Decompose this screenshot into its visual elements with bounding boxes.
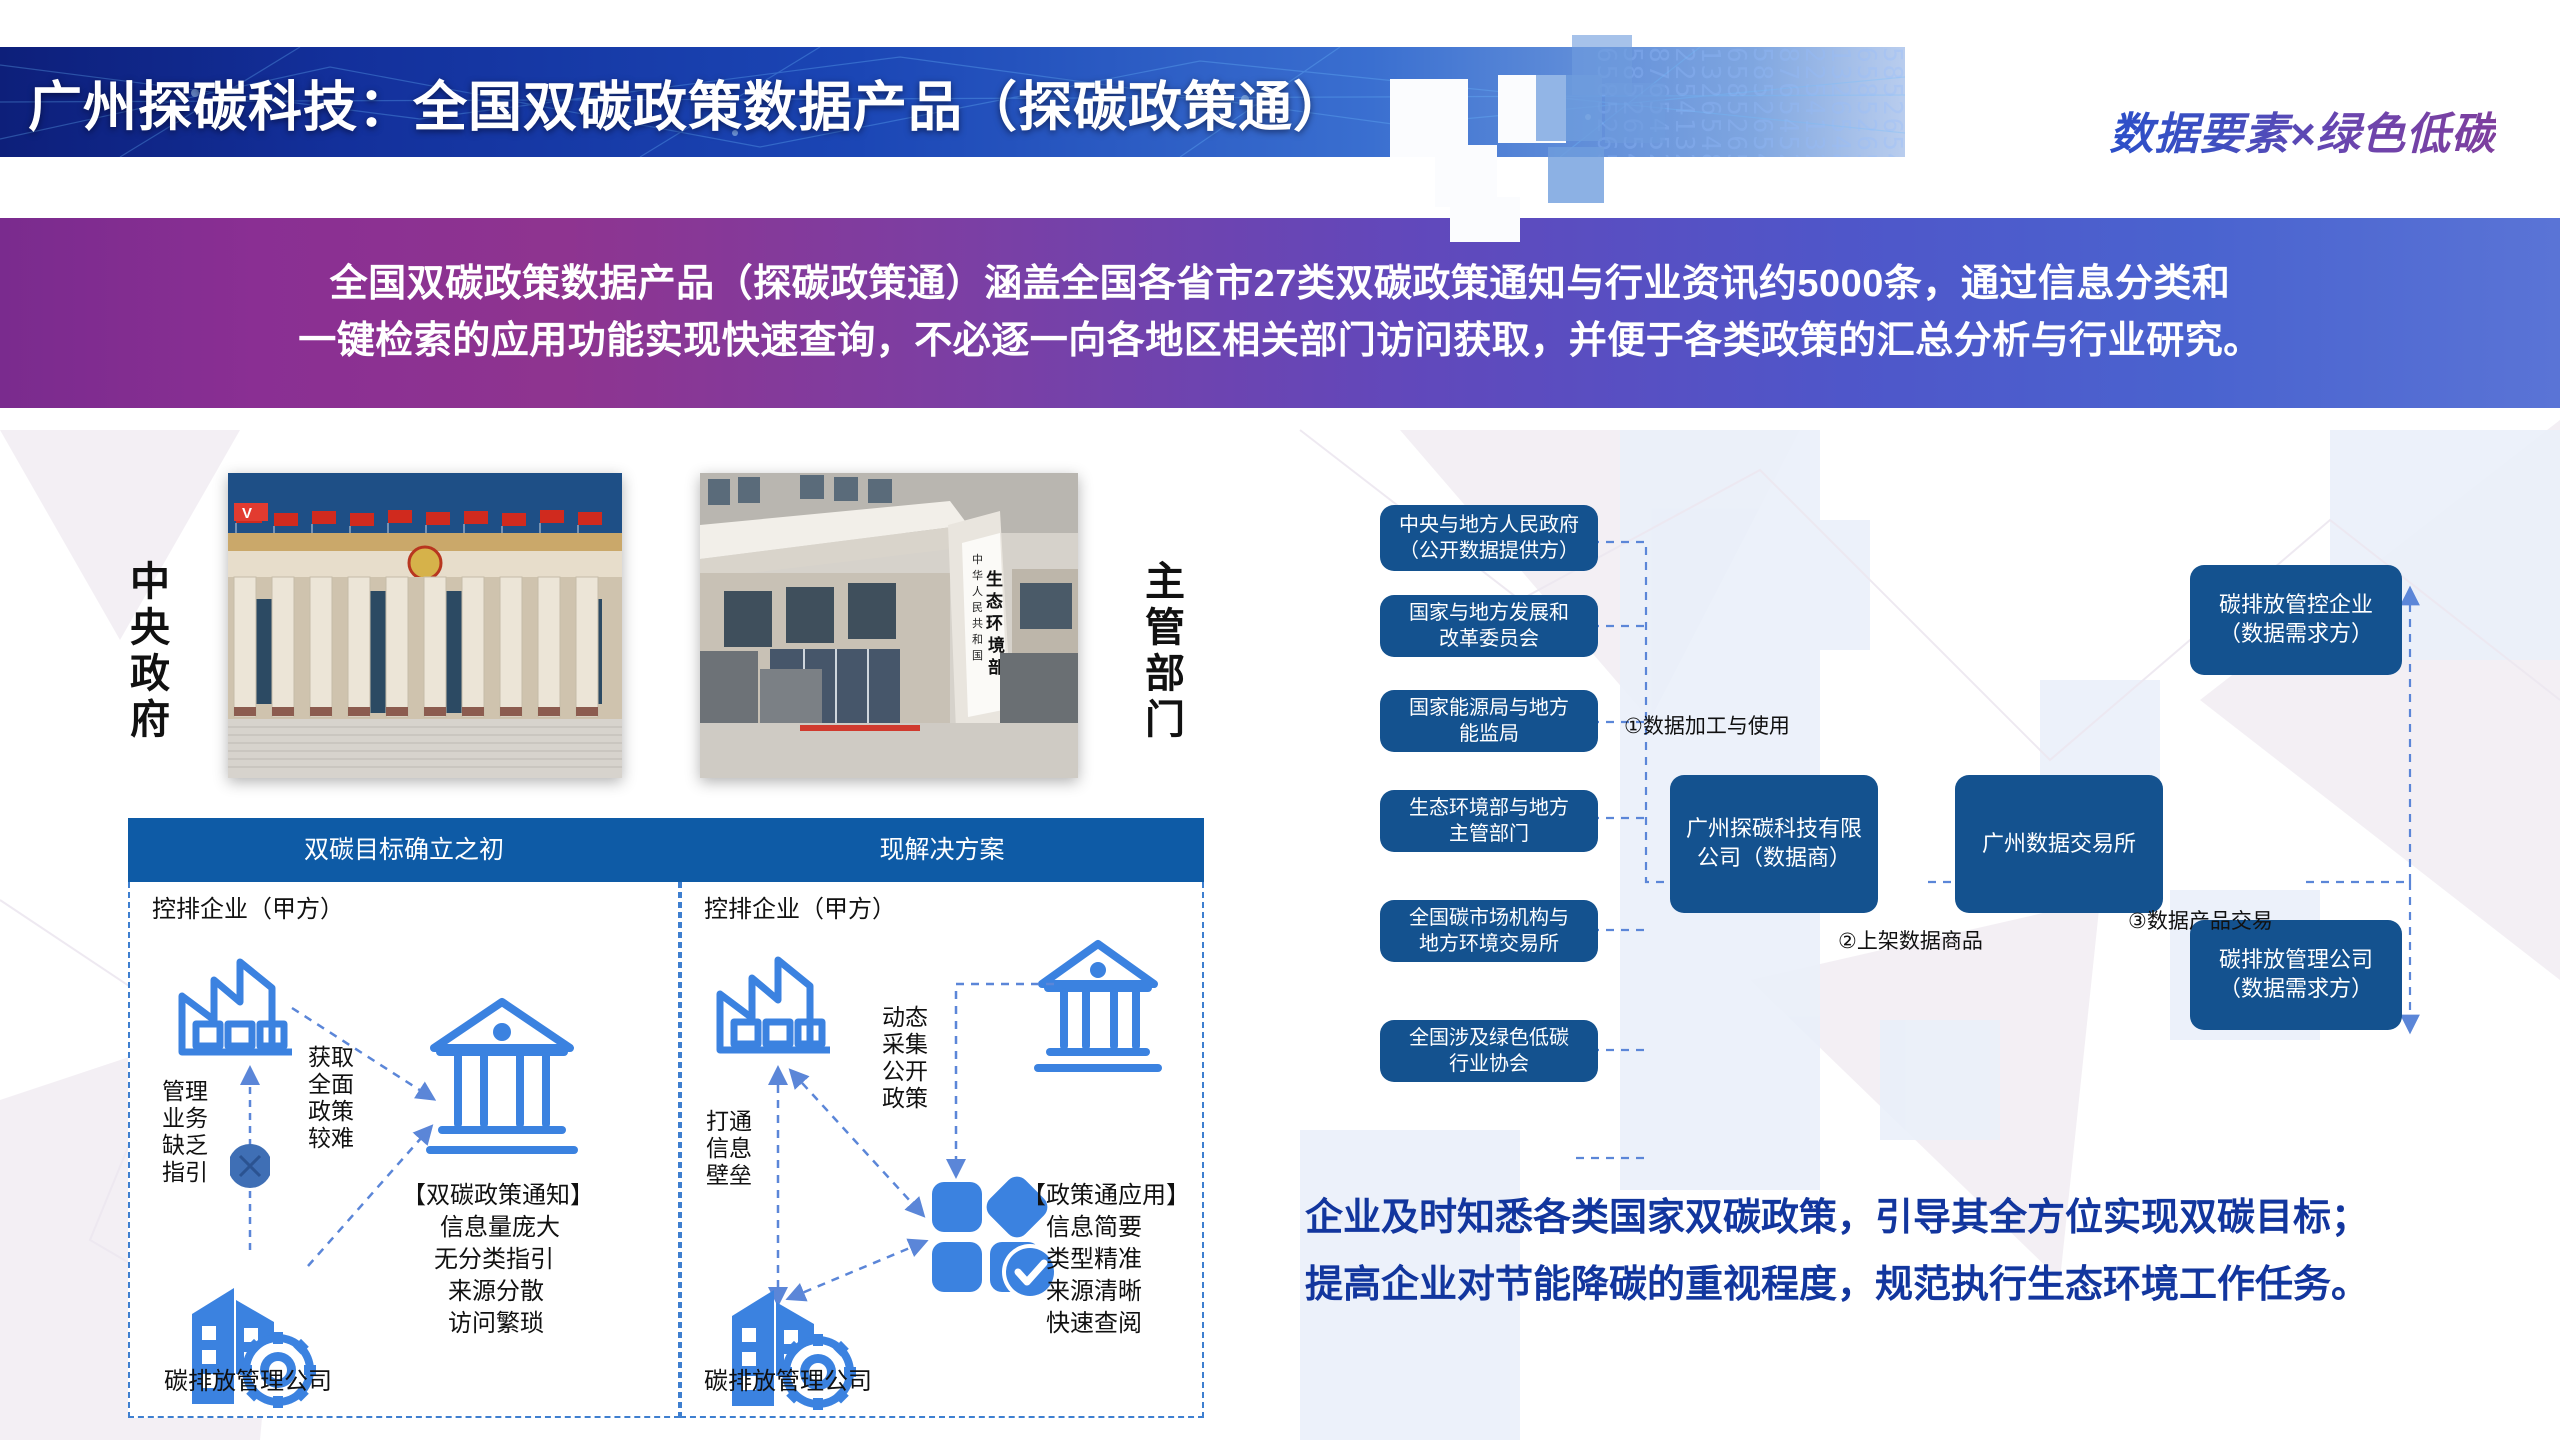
photo-ministry-image: 中华人 民共和国 生态环 境部 (700, 473, 1078, 778)
card-after: 现解决方案 控排企业（甲方） 动态 采集 公开 政策 打通 信息 壁垒 (680, 818, 1204, 1418)
svg-text:人: 人 (972, 585, 983, 598)
card-after-result-title: 【政策通应用】 (1022, 1182, 1190, 1210)
mosaic-square (1450, 197, 1520, 242)
card-after-party-label: 控排企业（甲方） (704, 896, 896, 924)
page-title: 广州探碳科技：全国双碳政策数据产品（探碳政策通） (28, 63, 1348, 142)
card-after-title: 现解决方案 (680, 818, 1204, 882)
card-before-left-note: 管理 业务 缺乏 指引 (162, 1078, 208, 1187)
card-before-bottom-label: 碳排放管理公司 (164, 1368, 332, 1396)
svg-text:态: 态 (986, 591, 1003, 611)
card-after-bottom-label: 碳排放管理公司 (704, 1368, 872, 1396)
header-mosaic-decoration (1390, 47, 1820, 222)
bank-icon (422, 992, 582, 1164)
flow-step-1-label: ①数据加工与使用 (1624, 710, 1790, 740)
svg-text:中: 中 (972, 553, 983, 566)
svg-text:境: 境 (988, 635, 1005, 655)
card-before-body: 控排企业（甲方） 管理 业务 缺乏 指引 获取 全面 政策 较难 (128, 882, 680, 1418)
card-before: 双碳目标确立之初 控排企业（甲方） 管理 业务 缺乏 指引 获取 (128, 818, 680, 1418)
flow-processor-box[interactable]: 广州探碳科技有限 公司（数据商） (1670, 775, 1878, 913)
card-before-result-3: 来源分散 (448, 1278, 544, 1306)
conclusion-line-1: 企业及时知悉各类国家双碳政策，引导其全方位实现双碳目标； (1305, 1185, 2369, 1252)
card-before-result-title: 【双碳政策通知】 (402, 1182, 594, 1210)
card-after-result-1: 信息简要 (1046, 1214, 1142, 1242)
summary-banner: 全国双碳政策数据产品（探碳政策通）涵盖全国各省市27类双碳政策通知与行业资讯约5… (0, 218, 2560, 408)
flow-step-2-label: ②上架数据商品 (1838, 925, 1983, 955)
svg-text:环: 环 (986, 614, 1003, 633)
flow-consumer-1[interactable]: 碳排放管理公司 （数据需求方） (2190, 920, 2402, 1030)
card-before-result-1: 信息量庞大 (440, 1214, 560, 1242)
flow-source-1[interactable]: 国家与地方发展和 改革委员会 (1380, 595, 1598, 657)
label-central-government: 中央政府 (125, 560, 167, 744)
flow-step-3-label: ③数据产品交易 (2128, 905, 2273, 935)
card-before-result-2: 无分类指引 (434, 1246, 554, 1274)
svg-text:国: 国 (972, 649, 983, 662)
flow-exchange-box[interactable]: 广州数据交易所 (1955, 775, 2163, 913)
svg-text:共: 共 (972, 617, 983, 630)
photo-great-hall-image: V (228, 473, 622, 778)
svg-text:民: 民 (972, 602, 983, 614)
header-tagline: 数据要素×绿色低碳 (2109, 98, 2496, 162)
svg-text:华: 华 (972, 568, 983, 582)
conclusion-text: 企业及时知悉各类国家双碳政策，引导其全方位实现双碳目标； 提高企业对节能降碳的重… (1305, 1185, 2369, 1318)
conclusion-line-2: 提高企业对节能降碳的重视程度，规范执行生态环境工作任务。 (1305, 1252, 2369, 1319)
flow-source-3[interactable]: 生态环境部与地方 主管部门 (1380, 790, 1598, 852)
banner-line-1: 全国双碳政策数据产品（探碳政策通）涵盖全国各省市27类双碳政策通知与行业资讯约5… (330, 256, 2231, 313)
card-before-party-label: 控排企业（甲方） (152, 896, 344, 924)
flow-source-2[interactable]: 国家能源局与地方 能监局 (1380, 690, 1598, 752)
flow-source-4[interactable]: 全国碳市场机构与 地方环境交易所 (1380, 900, 1598, 962)
photo-great-hall: V (228, 473, 622, 778)
photo-ministry-ecology: 中华人 民共和国 生态环 境部 (700, 473, 1078, 778)
blocked-flow-arrow (230, 1060, 270, 1256)
label-competent-department: 主管部门 (1140, 560, 1182, 744)
mosaic-square (1605, 83, 1665, 143)
card-after-body: 控排企业（甲方） 动态 采集 公开 政策 打通 信息 壁垒 (680, 882, 1204, 1418)
card-after-result-2: 类型精准 (1046, 1246, 1142, 1274)
flow-consumer-0[interactable]: 碳排放管控企业 （数据需求方） (2190, 565, 2402, 675)
mosaic-square (1548, 147, 1604, 203)
factory-icon (712, 938, 838, 1058)
svg-text:V: V (242, 505, 252, 522)
card-after-result-4: 快速查阅 (1046, 1310, 1142, 1338)
card-before-title: 双碳目标确立之初 (128, 818, 680, 882)
svg-text:和: 和 (972, 633, 983, 646)
card-after-result-3: 来源清晰 (1046, 1278, 1142, 1306)
svg-text:生: 生 (986, 569, 1003, 589)
card-before-result-4: 访问繁琐 (448, 1310, 544, 1338)
flow-source-5[interactable]: 全国涉及绿色低碳 行业协会 (1380, 1020, 1598, 1082)
banner-line-2: 一键检索的应用功能实现快速查询，不必逐一向各地区相关部门访问获取，并便于各类政策… (298, 313, 2262, 370)
flow-source-0[interactable]: 中央与地方人民政府 （公开数据提供方） (1380, 505, 1598, 571)
